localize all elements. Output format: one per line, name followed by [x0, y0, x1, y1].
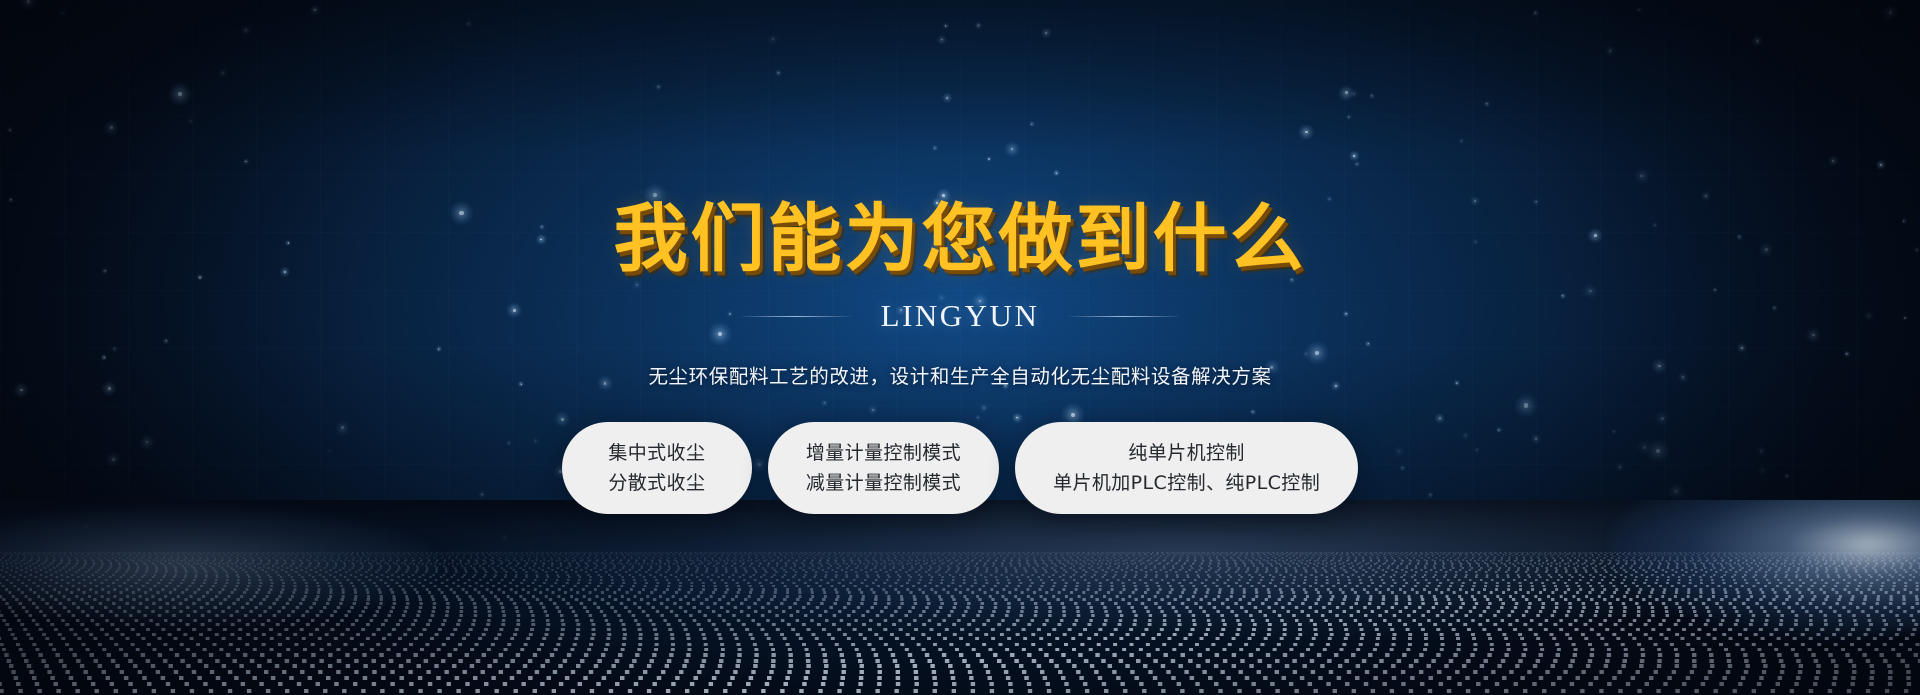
pill-line-2: 单片机加PLC控制、纯PLC控制: [1053, 474, 1320, 493]
brand-name: LINGYUN: [881, 298, 1040, 334]
banner-tagline: 无尘环保配料工艺的改进，设计和生产全自动化无尘配料设备解决方案: [648, 360, 1271, 389]
pill-line-1: 集中式收尘: [608, 444, 705, 463]
banner-content: 我们能为您做到什么 LINGYUN 无尘环保配料工艺的改进，设计和生产全自动化无…: [0, 0, 1920, 695]
brand-row: LINGYUN: [741, 298, 1180, 334]
hero-banner: 我们能为您做到什么 LINGYUN 无尘环保配料工艺的改进，设计和生产全自动化无…: [0, 0, 1920, 695]
pill-line-1: 纯单片机控制: [1128, 444, 1244, 463]
divider-line-right: [1069, 316, 1179, 317]
banner-headline: 我们能为您做到什么: [614, 202, 1307, 276]
feature-pill-dust-collection[interactable]: 集中式收尘 分散式收尘: [562, 422, 752, 514]
feature-pill-list: 集中式收尘 分散式收尘 增量计量控制模式 减量计量控制模式 纯单片机控制 单片机…: [562, 422, 1358, 514]
feature-pill-control-system[interactable]: 纯单片机控制 单片机加PLC控制、纯PLC控制: [1015, 422, 1358, 514]
pill-line-1: 增量计量控制模式: [806, 444, 961, 463]
pill-line-2: 分散式收尘: [608, 474, 705, 493]
feature-pill-metering-mode[interactable]: 增量计量控制模式 减量计量控制模式: [768, 422, 999, 514]
pill-line-2: 减量计量控制模式: [806, 474, 961, 493]
divider-line-left: [741, 316, 851, 317]
